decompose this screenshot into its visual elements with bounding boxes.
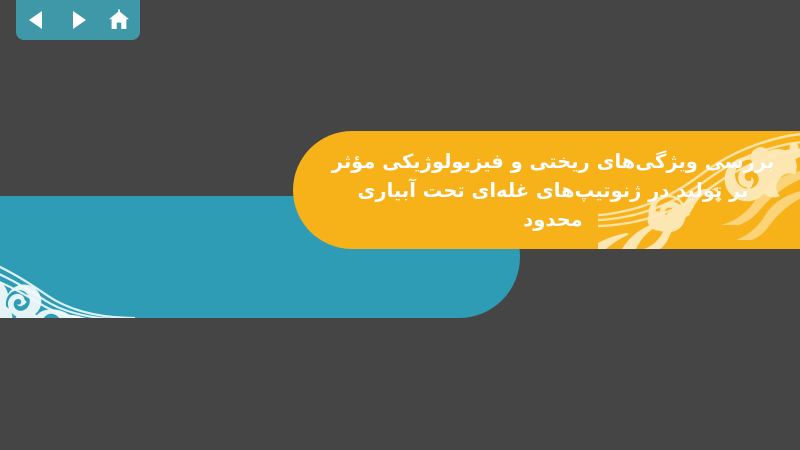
triangle-right-icon <box>67 9 89 31</box>
navigation-bar <box>16 0 140 40</box>
home-icon <box>107 8 131 32</box>
triangle-left-icon <box>26 9 48 31</box>
presentation-slide: بررسی ویژگی‌های ریختی و فیزیولوژیکی مؤثر… <box>0 0 800 450</box>
arabesque-ornament-teal <box>0 196 135 318</box>
title-banner <box>293 131 800 249</box>
arabesque-ornament-orange <box>598 131 800 249</box>
back-button[interactable] <box>22 6 52 34</box>
home-button[interactable] <box>104 6 134 34</box>
forward-button[interactable] <box>63 6 93 34</box>
